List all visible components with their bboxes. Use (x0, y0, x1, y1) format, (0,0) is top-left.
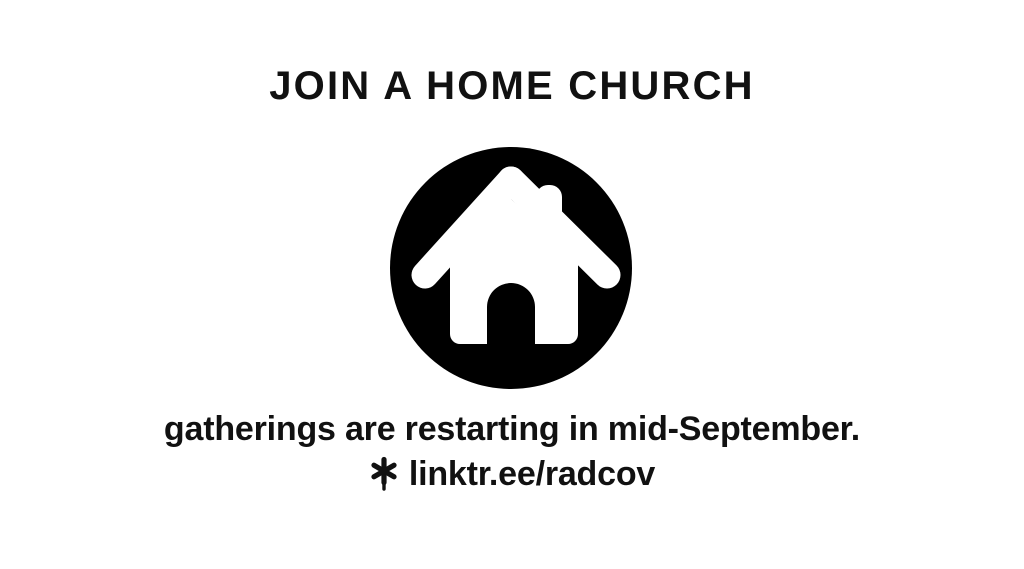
link-line[interactable]: linktr.ee/radcov (0, 453, 1024, 495)
caption-block: gatherings are restarting in mid-Septemb… (0, 408, 1024, 495)
home-icon (389, 147, 633, 389)
page-title: JOIN A HOME CHURCH (0, 62, 1024, 110)
slide-canvas: JOIN A HOME CHURCH gatherings are restar… (0, 0, 1024, 569)
asterisk-icon (369, 456, 399, 492)
subtitle-text: gatherings are restarting in mid-Septemb… (0, 408, 1024, 450)
link-url-text[interactable]: linktr.ee/radcov (409, 453, 655, 495)
